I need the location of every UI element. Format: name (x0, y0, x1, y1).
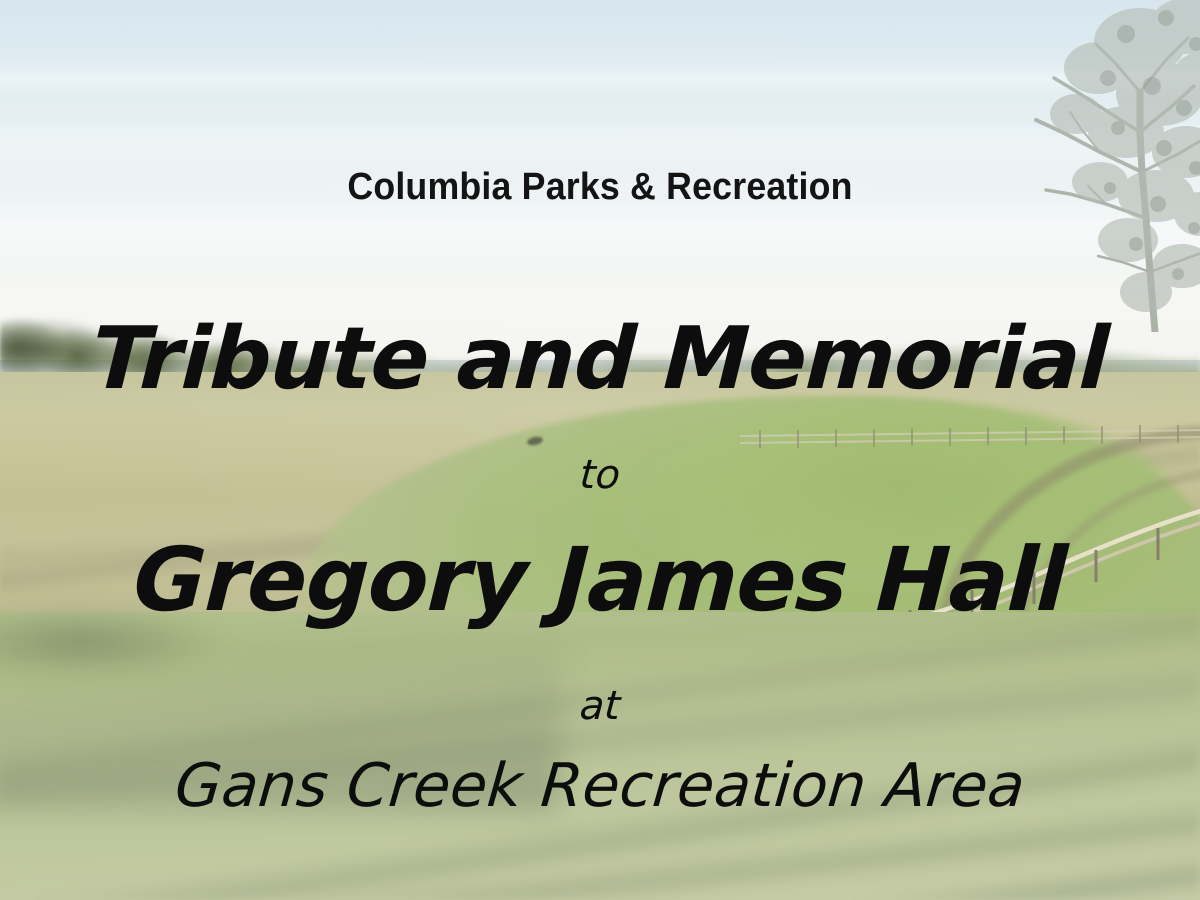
page-title: Tribute and Memorial (0, 316, 1200, 402)
connector-at: at (0, 686, 1200, 726)
memorial-poster: Columbia Parks & Recreation Tribute and … (0, 0, 1200, 900)
venue-name: Gans Creek Recreation Area (0, 756, 1200, 816)
honoree-name: Gregory James Hall (0, 536, 1200, 624)
connector-to: to (0, 455, 1200, 495)
text-overlay: Columbia Parks & Recreation Tribute and … (0, 0, 1200, 900)
organization-name: Columbia Parks & Recreation (36, 166, 1164, 209)
